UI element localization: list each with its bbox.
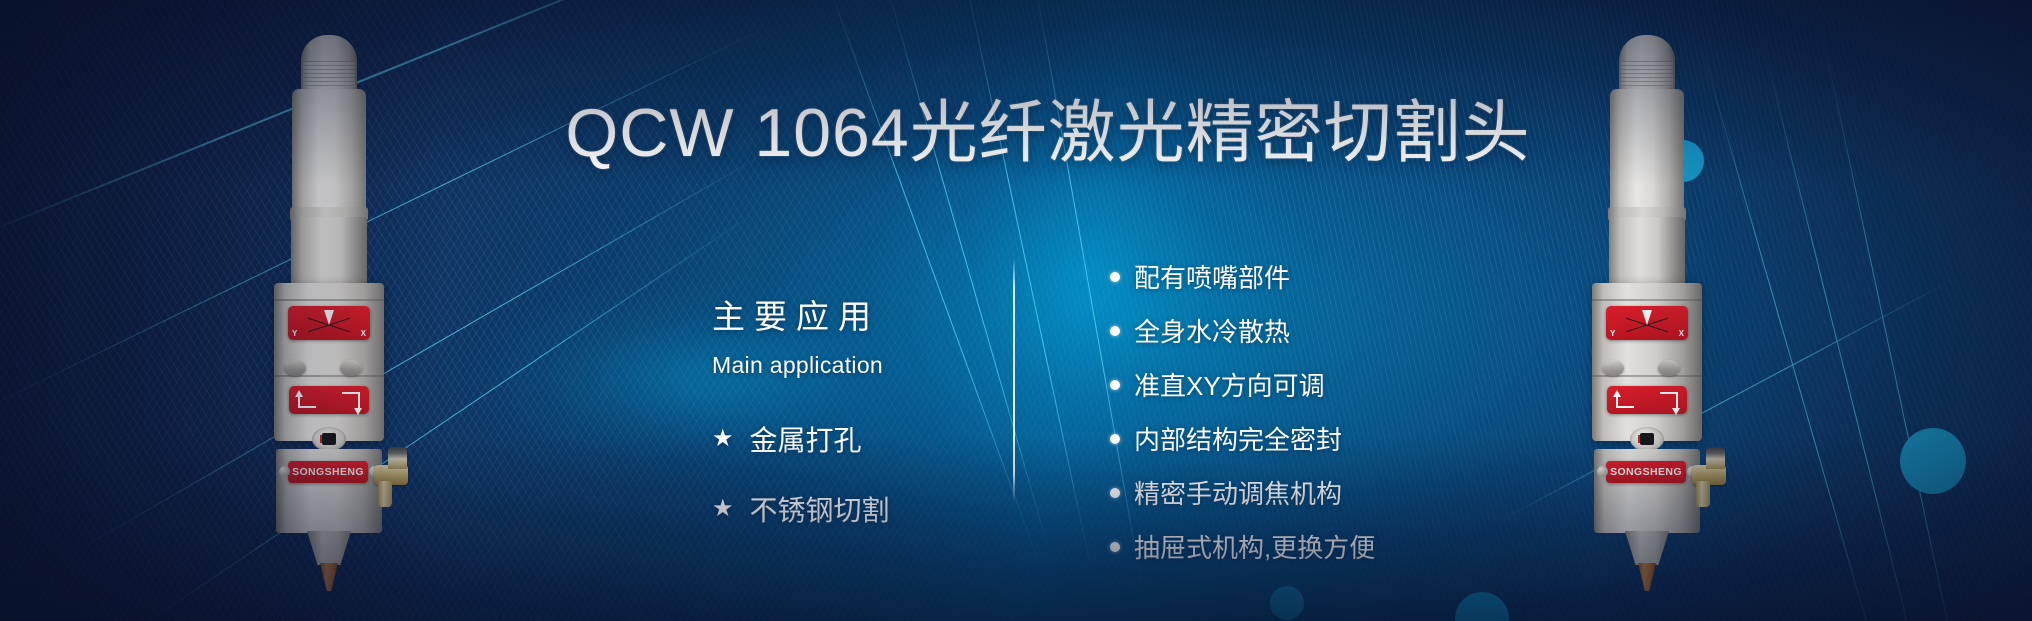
- product-barrel: [1609, 217, 1685, 289]
- bullet-icon: [1110, 326, 1120, 336]
- feature-item-label: 配有喷嘴部件: [1134, 258, 1290, 295]
- product-gas-fitting: [1692, 465, 1726, 485]
- feature-item-label: 准直XY方向可调: [1134, 366, 1325, 403]
- application-heading-en: Main application: [712, 352, 1012, 379]
- star-icon: ★: [712, 427, 734, 451]
- axis-label-y: Y: [1610, 329, 1615, 338]
- product-seam: [274, 299, 384, 301]
- list-item: 准直XY方向可调: [1110, 366, 1550, 403]
- product-xy-alignment-label: Y X: [288, 306, 370, 340]
- arrow-right-icon: [1660, 392, 1678, 408]
- product-brand-label: SONGSHENG: [288, 461, 368, 483]
- arrow-right-icon: [342, 392, 360, 408]
- product-brand-label: SONGSHENG: [1606, 461, 1686, 483]
- list-item: 全身水冷散热: [1110, 312, 1550, 349]
- product-viewing-window: [1630, 427, 1664, 451]
- feature-item-label: 内部结构完全密封: [1134, 420, 1342, 457]
- application-item-label: 金属打孔: [750, 419, 862, 459]
- column-divider: [1013, 258, 1015, 502]
- product-xy-alignment-label: Y X: [1606, 306, 1688, 340]
- product-direction-label: [1607, 386, 1687, 414]
- product-banner: Y X SONGSHENG Y X: [0, 0, 2032, 621]
- list-item: ★ 金属打孔: [712, 419, 1012, 459]
- product-image-left: Y X SONGSHENG: [262, 35, 422, 595]
- star-icon: ★: [712, 497, 734, 521]
- product-adjust-knob: [1658, 360, 1680, 376]
- product-adjust-knob: [1602, 360, 1624, 376]
- product-cap-ridges: [303, 61, 355, 87]
- application-item-label: 不锈钢切割: [750, 489, 890, 529]
- product-screw: [279, 466, 290, 477]
- axis-label-x: X: [361, 329, 366, 338]
- feature-item-label: 抽屉式机构,更换方便: [1134, 528, 1375, 565]
- feature-item-label: 精密手动调焦机构: [1134, 474, 1342, 511]
- list-item: 内部结构完全密封: [1110, 420, 1550, 457]
- product-gas-fitting: [374, 465, 408, 485]
- bullet-icon: [1110, 434, 1120, 444]
- application-heading-cn: 主要应用: [712, 290, 1012, 338]
- product-nozzle-tip: [1638, 563, 1656, 591]
- application-list: ★ 金属打孔 ★ 不锈钢切割: [712, 419, 1012, 529]
- banner-title: QCW 1064光纤激光精密切割头: [548, 98, 1548, 169]
- axis-label-y: Y: [292, 329, 297, 338]
- feature-item-label: 全身水冷散热: [1134, 312, 1290, 349]
- features-list: 配有喷嘴部件 全身水冷散热 准直XY方向可调 内部结构完全密封 精密手动调焦机构…: [1110, 258, 1550, 565]
- bullet-icon: [1110, 542, 1120, 552]
- product-nozzle-base: [307, 531, 351, 565]
- bullet-icon: [1110, 380, 1120, 390]
- list-item: 精密手动调焦机构: [1110, 474, 1550, 511]
- list-item: 抽屉式机构,更换方便: [1110, 528, 1550, 565]
- list-item: ★ 不锈钢切割: [712, 489, 1012, 529]
- product-nozzle-base: [1625, 531, 1669, 565]
- product-neck: [292, 89, 366, 213]
- bullet-icon: [1110, 488, 1120, 498]
- decorative-circle: [1270, 586, 1304, 620]
- arrow-left-icon: [298, 392, 316, 408]
- list-item: 配有喷嘴部件: [1110, 258, 1550, 295]
- product-adjust-knob: [284, 360, 306, 376]
- beam-cone-icon: [1642, 310, 1652, 325]
- arrow-left-icon: [1616, 392, 1634, 408]
- axis-label-x: X: [1679, 329, 1684, 338]
- application-column: 主要应用 Main application ★ 金属打孔 ★ 不锈钢切割: [712, 290, 1012, 559]
- product-image-right: Y X SONGSHENG: [1580, 35, 1740, 595]
- product-neck: [1610, 89, 1684, 213]
- beam-cone-icon: [324, 310, 334, 325]
- product-barrel: [291, 217, 367, 289]
- bullet-icon: [1110, 272, 1120, 282]
- product-seam: [1592, 299, 1702, 301]
- features-column: 配有喷嘴部件 全身水冷散热 准直XY方向可调 内部结构完全密封 精密手动调焦机构…: [1110, 258, 1550, 582]
- product-nozzle-tip: [320, 563, 338, 591]
- product-direction-label: [289, 386, 369, 414]
- decorative-circle: [1900, 428, 1966, 494]
- product-screw: [1597, 466, 1608, 477]
- product-viewing-window: [312, 427, 346, 451]
- product-adjust-knob: [340, 360, 362, 376]
- product-cap-ridges: [1621, 61, 1673, 87]
